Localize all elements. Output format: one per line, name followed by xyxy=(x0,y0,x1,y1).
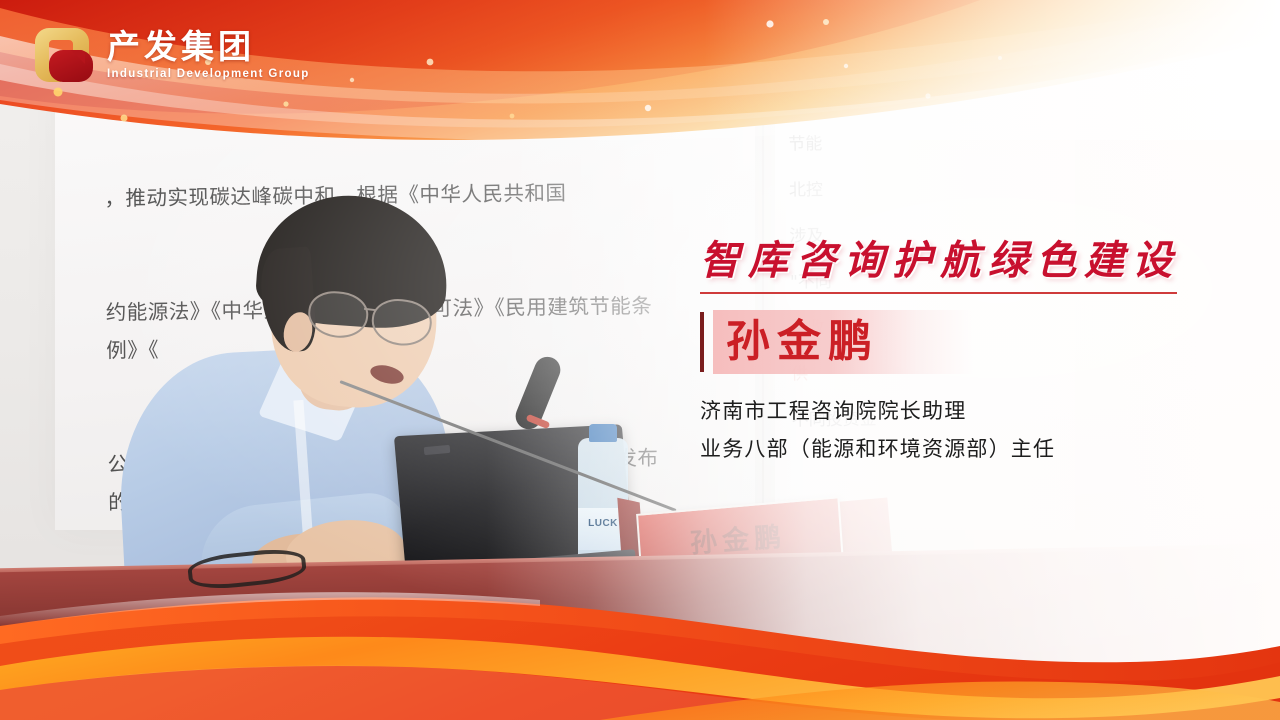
brand-name-en: Industrial Development Group xyxy=(107,68,310,80)
speaker-name-row: 孙金鹏 xyxy=(700,310,1240,374)
brand-logo[interactable]: 产发集团 Industrial Development Group xyxy=(33,24,310,86)
speaker-titles: 济南市工程咨询院院长助理 业务八部（能源和环境资源部）主任 xyxy=(700,392,1240,468)
brand-name-cn: 产发集团 xyxy=(107,30,310,65)
broadcast-lower-third-slide: ，推动实现碳达峰碳中和，根据《中华人民共和国 约能源法》《中华人民共和国行政许可… xyxy=(0,0,1280,720)
speaker-info-panel: 智库咨询护航绿色建设 孙金鹏 济南市工程咨询院院长助理 业务八部（能源和环境资源… xyxy=(700,236,1240,468)
speaker-name: 孙金鹏 xyxy=(700,310,879,374)
speaker-title-line-2: 业务八部（能源和环境资源部）主任 xyxy=(700,430,1240,468)
presentation-title: 智库咨询护航绿色建设 xyxy=(700,236,1240,286)
top-banner: 产发集团 Industrial Development Group xyxy=(0,0,1280,140)
product-development-group-logo-icon xyxy=(33,24,95,86)
title-divider xyxy=(700,292,1177,294)
bottom-ribbon-banner xyxy=(0,570,1280,720)
speaker-title-line-1: 济南市工程咨询院院长助理 xyxy=(700,392,1240,430)
